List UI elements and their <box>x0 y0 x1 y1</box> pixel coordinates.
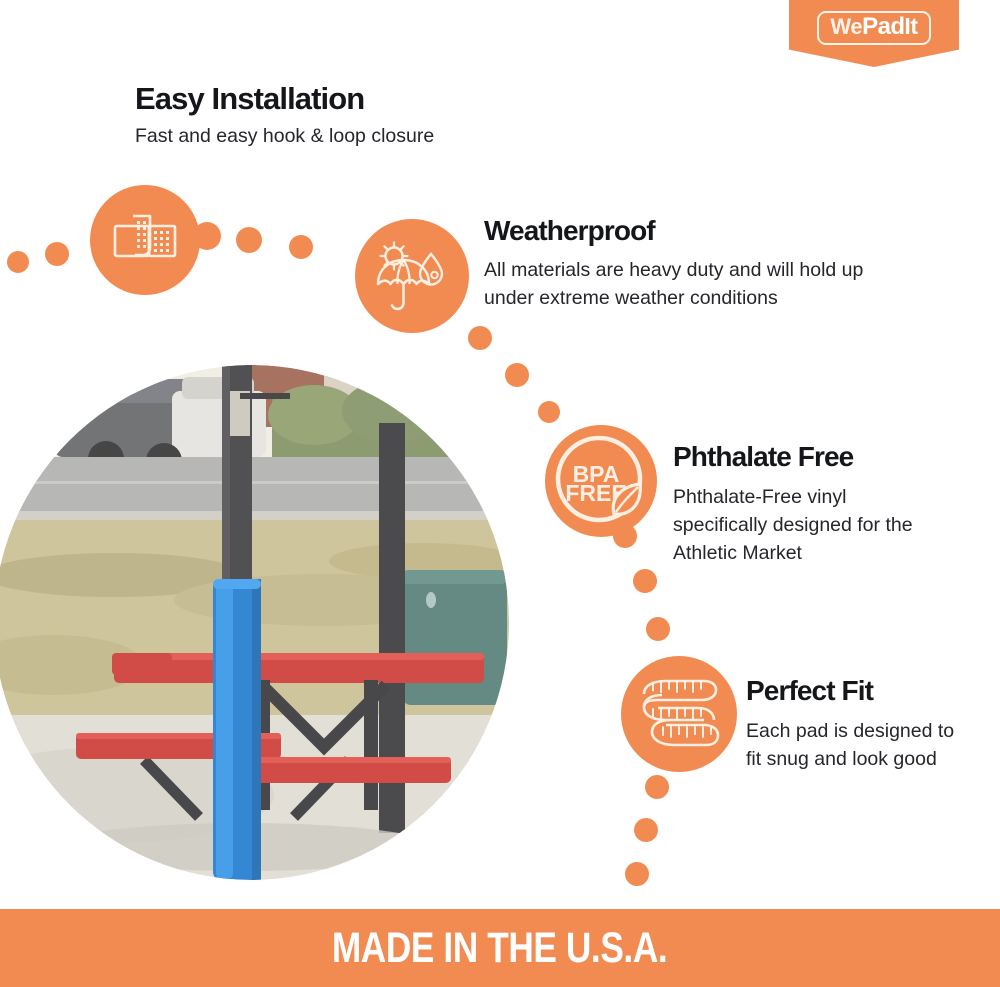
connector-dot <box>45 242 69 266</box>
feature-title-weatherproof: Weatherproof <box>484 215 655 247</box>
connector-dot <box>7 251 29 273</box>
feature-title-phthalate-free: Phthalate Free <box>673 441 853 473</box>
velcro-hook-loop-icon <box>90 185 200 295</box>
connector-dot <box>646 617 670 641</box>
connector-dot <box>633 569 657 593</box>
umbrella-sun-raindrop-icon <box>355 219 469 333</box>
feature-description-phthalate-free: Phthalate-Free vinyl specifically design… <box>673 483 943 567</box>
connector-dot <box>236 227 262 253</box>
infographic-page: We Pad It Easy Installation Fast and eas… <box>0 0 1000 987</box>
bpa-free-leaf-icon: BPA FREE <box>545 425 657 537</box>
brand-logo-it: It <box>904 15 917 38</box>
connector-dot <box>505 363 529 387</box>
feature-description-weatherproof: All materials are heavy duty and will ho… <box>484 257 904 312</box>
product-photo-pole-pad <box>0 365 509 880</box>
connector-dot <box>538 401 560 423</box>
made-in-usa-text: MADE IN THE U.S.A. <box>332 924 667 973</box>
connector-dot <box>645 775 669 799</box>
brand-logo-we: We <box>830 16 862 38</box>
feature-title-perfect-fit: Perfect Fit <box>746 675 873 707</box>
connector-dot <box>625 862 649 886</box>
feature-title-easy-installation: Easy Installation <box>135 81 364 117</box>
connector-dot <box>468 326 492 350</box>
brand-logo-pad: Pad <box>862 15 904 39</box>
feature-description-easy-installation: Fast and easy hook & loop closure <box>135 125 434 148</box>
brand-logo-frame: We Pad It <box>817 11 930 45</box>
connector-dot <box>289 235 313 259</box>
made-in-usa-banner: MADE IN THE U.S.A. <box>0 909 1000 987</box>
brand-logo[interactable]: We Pad It <box>789 0 959 67</box>
connector-dot <box>634 818 658 842</box>
tape-measure-icon <box>621 656 737 772</box>
feature-description-perfect-fit: Each pad is designed to fit snug and loo… <box>746 717 971 773</box>
